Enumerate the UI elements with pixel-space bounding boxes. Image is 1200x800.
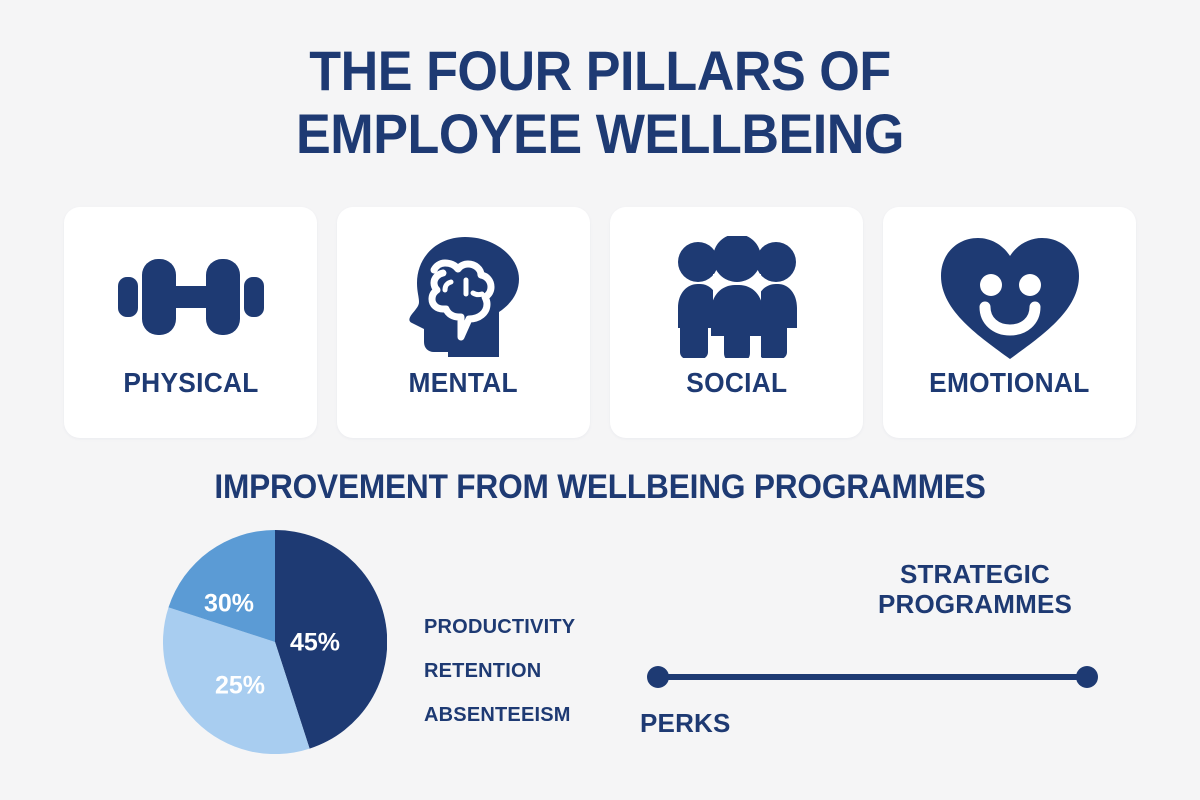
pillar-label-emotional: EMOTIONAL [929,367,1089,399]
legend-item-retention[interactable]: RETENTION [424,660,575,683]
pillar-card-list: PHYSICAL MENTAL [64,207,1136,438]
page-title: THE FOUR PILLARS OF EMPLOYEE WELLBEING [42,40,1158,165]
pillar-label-mental: MENTAL [409,367,518,399]
pillar-label-social: SOCIAL [686,367,787,399]
head-brain-icon [405,233,523,361]
page-title-line-1: THE FOUR PILLARS OF [42,40,1158,103]
legend-item-productivity[interactable]: PRODUCTIVITY [424,616,575,639]
pillar-card-emotional[interactable]: EMOTIONAL [883,207,1136,438]
pillar-label-physical: PHYSICAL [123,367,258,399]
heart-smile-icon [935,233,1085,361]
spectrum-right-label-line-1: STRATEGIC [840,560,1110,590]
improvement-pie-chart: 45% 30% 25% [163,530,387,754]
pillar-card-social[interactable]: SOCIAL [610,207,863,438]
page-title-line-2: EMPLOYEE WELLBEING [42,103,1158,166]
perks-to-strategic-spectrum: STRATEGIC PROGRAMMES PERKS [640,560,1110,740]
spectrum-handle-strategic[interactable] [1076,666,1098,688]
spectrum-right-label-line-2: PROGRAMMES [840,590,1110,620]
pie-value-retention: 30% [204,590,254,618]
section-subtitle: IMPROVEMENT FROM WELLBEING PROGRAMMES [42,468,1158,507]
pie-legend: PRODUCTIVITY RETENTION ABSENTEEISM [424,616,575,727]
pillar-card-physical[interactable]: PHYSICAL [64,207,317,438]
people-group-icon [664,233,810,361]
dumbbell-icon [116,233,266,361]
pie-value-absenteeism: 25% [215,672,265,700]
pie-value-productivity: 45% [290,629,340,657]
spectrum-handle-perks[interactable] [647,666,669,688]
infographic-canvas: THE FOUR PILLARS OF EMPLOYEE WELLBEING P… [0,0,1200,800]
spectrum-left-label: PERKS [640,708,731,739]
legend-item-absenteeism[interactable]: ABSENTEEISM [424,704,575,727]
spectrum-right-label: STRATEGIC PROGRAMMES [840,560,1110,619]
pillar-card-mental[interactable]: MENTAL [337,207,590,438]
spectrum-track[interactable] [658,674,1087,680]
